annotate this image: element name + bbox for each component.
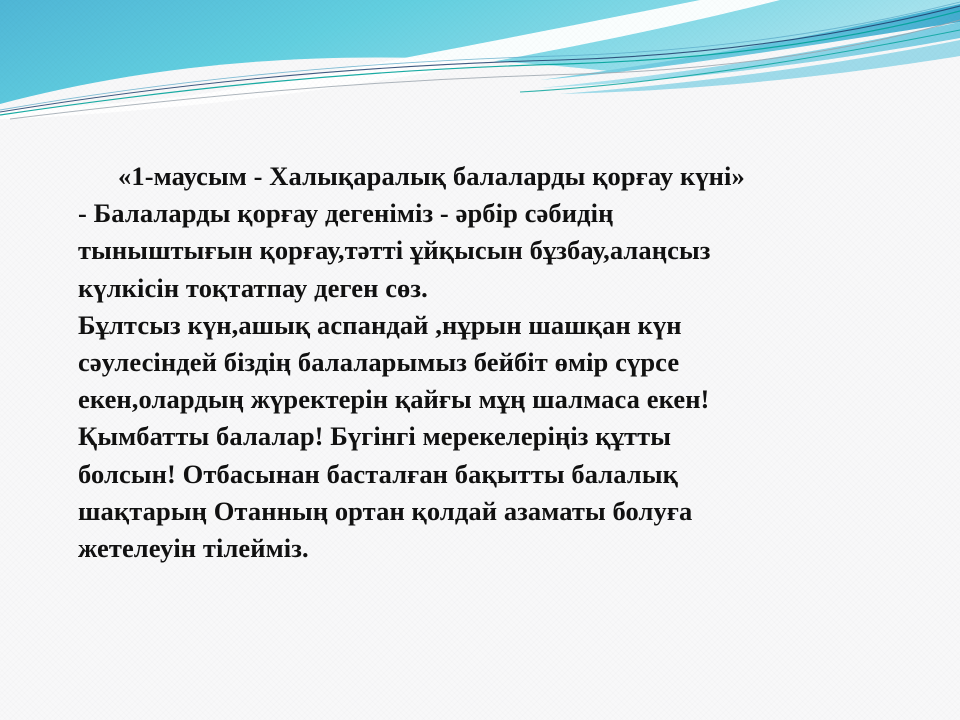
paragraph-3: Қымбатты балалар! Бүгінгі мерекелеріңіз …	[78, 418, 908, 567]
paragraph-2: Бұлтсыз күн,ашық аспандай ,нұрын шашқан …	[78, 307, 908, 419]
slide-text-body: «1-маусым - Халықаралық балаларды қорғау…	[78, 158, 908, 567]
paragraph-1: «1-маусым - Халықаралық балаларды қорғау…	[78, 158, 908, 307]
decorative-wave-banner	[0, 0, 960, 120]
presentation-slide: «1-маусым - Халықаралық балаларды қорғау…	[0, 0, 960, 720]
